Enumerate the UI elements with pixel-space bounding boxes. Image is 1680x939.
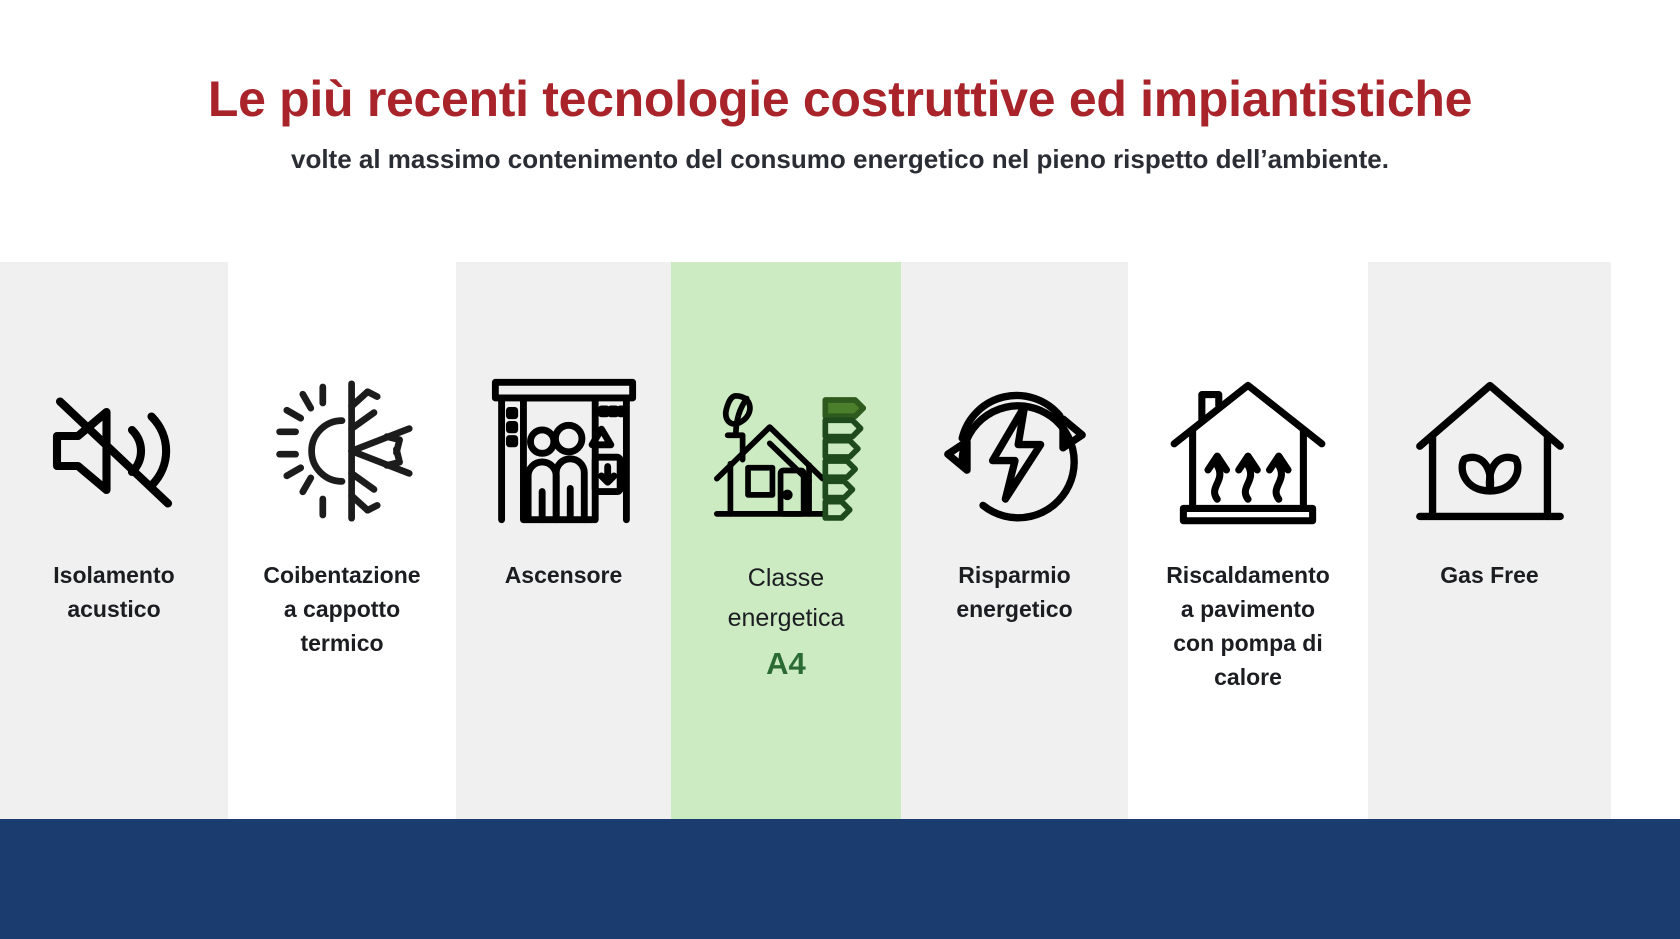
- feature-labels: Riscaldamento a pavimento con pompa di c…: [1128, 558, 1368, 694]
- feature-card-classe-energetica[interactable]: Classe energetica A4: [671, 262, 901, 832]
- house-leaf-icon: [1410, 366, 1570, 536]
- feature-label: Isolamento acustico: [6, 558, 222, 626]
- feature-labels: Coibentazione a cappotto termico: [228, 558, 456, 660]
- feature-card-ascensore[interactable]: Ascensore: [456, 262, 671, 832]
- elevator-icon: [484, 366, 644, 536]
- feature-card-isolamento-acustico[interactable]: Isolamento acustico: [0, 262, 228, 832]
- footer-bar: [0, 819, 1680, 939]
- energy-class-badge: A4: [677, 644, 895, 684]
- feature-label: Ascensore: [462, 558, 665, 592]
- feature-labels: Ascensore: [456, 558, 671, 592]
- eco-house-energy-rating-icon: [706, 366, 866, 536]
- speaker-mute-icon: [34, 366, 194, 536]
- page-title: Le più recenti tecnologie costruttive ed…: [0, 0, 1680, 126]
- header: Le più recenti tecnologie costruttive ed…: [0, 0, 1680, 255]
- feature-card-gas-free[interactable]: Gas Free: [1368, 262, 1611, 832]
- feature-labels: Risparmio energetico: [901, 558, 1128, 626]
- feature-label: Gas Free: [1374, 558, 1605, 592]
- sun-snowflake-icon: [262, 366, 422, 536]
- feature-labels: Gas Free: [1368, 558, 1611, 592]
- feature-label: Classe energetica: [677, 558, 895, 638]
- slide-root: Le più recenti tecnologie costruttive ed…: [0, 0, 1680, 939]
- feature-label: Risparmio energetico: [907, 558, 1122, 626]
- feature-label: Riscaldamento a pavimento con pompa di c…: [1134, 558, 1362, 694]
- feature-labels: Isolamento acustico: [0, 558, 228, 626]
- features-strip: Isolamento acustico: [0, 262, 1680, 832]
- page-subtitle: volte al massimo contenimento del consum…: [0, 126, 1680, 175]
- feature-card-risparmio-energetico[interactable]: Risparmio energetico: [901, 262, 1128, 832]
- feature-label: Coibentazione a cappotto termico: [234, 558, 450, 660]
- energy-recycle-bolt-icon: [935, 366, 1095, 536]
- house-floor-heating-icon: [1168, 366, 1328, 536]
- feature-card-riscaldamento-pavimento[interactable]: Riscaldamento a pavimento con pompa di c…: [1128, 262, 1368, 832]
- feature-card-coibentazione[interactable]: Coibentazione a cappotto termico: [228, 262, 456, 832]
- feature-labels: Classe energetica A4: [671, 558, 901, 684]
